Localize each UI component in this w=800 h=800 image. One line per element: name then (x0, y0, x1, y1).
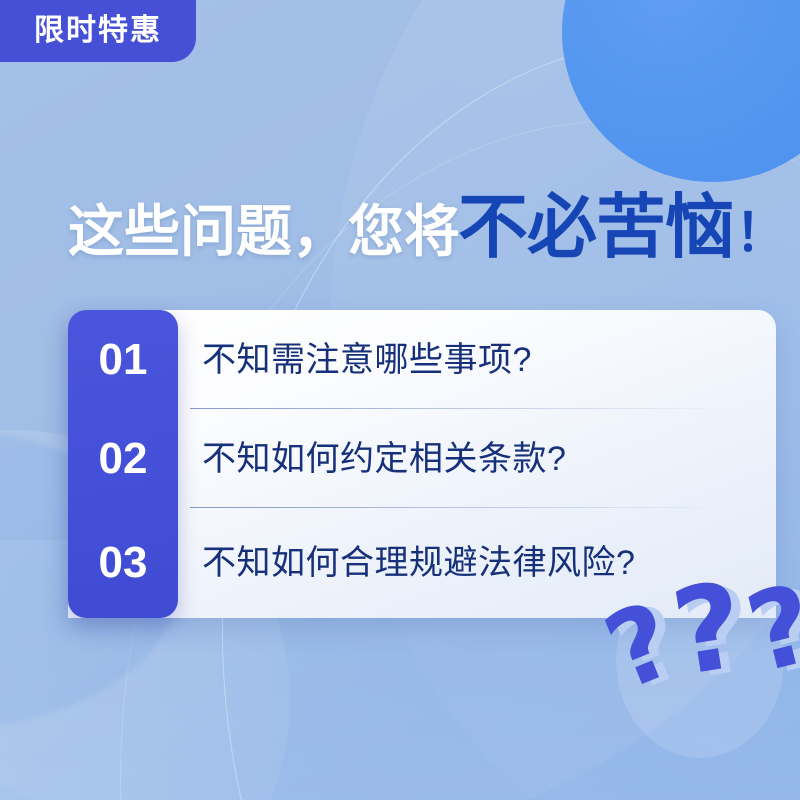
list-item-label: 不知如何约定相关条款? (202, 442, 566, 476)
page-title: 这些问题，您将 不必苦恼 ！ (68, 192, 787, 262)
list-item-label: 不知如何合理规避法律风险? (202, 546, 635, 580)
list-item-number: 03 (68, 541, 178, 585)
headline-lead-text: 这些问题，您将 (68, 204, 460, 260)
list-item-number: 02 (68, 437, 178, 481)
promo-badge: 限时特惠 (0, 0, 196, 62)
list-item-number: 01 (68, 338, 178, 382)
promo-badge-label: 限时特惠 (34, 16, 162, 46)
promo-poster: 限时特惠 这些问题，您将 不必苦恼 ！ 01 不知需注意哪些事项? 02 不知如… (0, 0, 800, 800)
list-item[interactable]: 02 不知如何约定相关条款? (68, 409, 776, 508)
question-mark-decoration: ? ? ? (600, 560, 800, 700)
headline-exclamation: ！ (735, 208, 787, 260)
list-item[interactable]: 01 不知需注意哪些事项? (68, 310, 776, 409)
list-item-label: 不知需注意哪些事项? (202, 343, 532, 377)
headline-accent-text: 不必苦恼 (458, 192, 734, 262)
